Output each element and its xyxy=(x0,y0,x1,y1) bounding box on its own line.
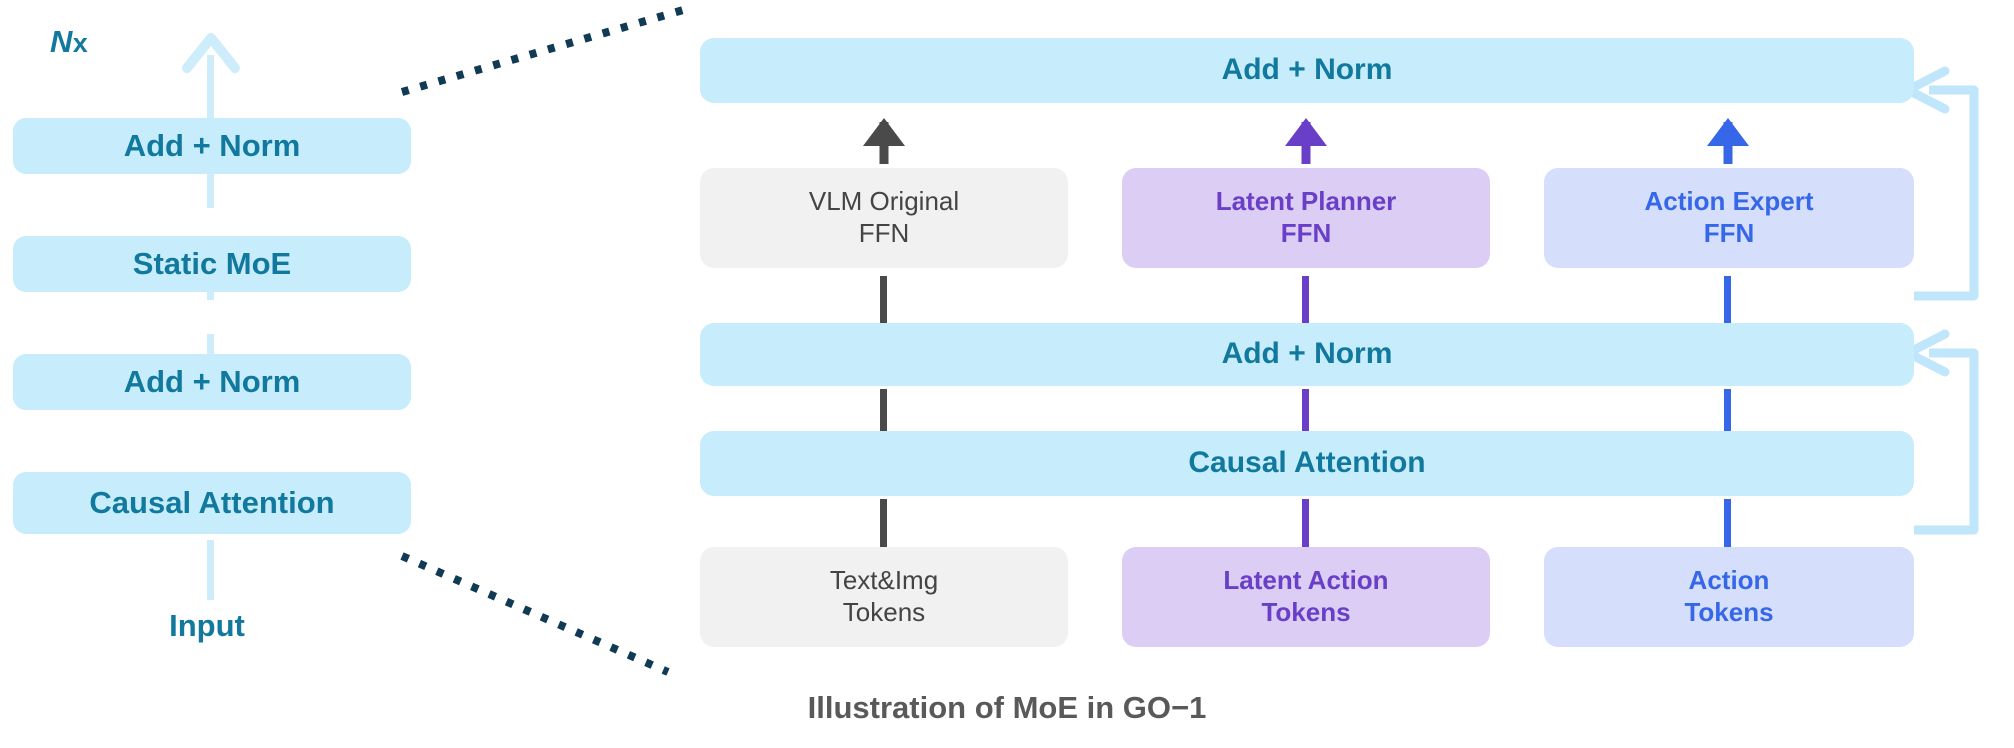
repeat-count-n: N xyxy=(50,24,73,59)
stem-gray-addnorm-to-attn xyxy=(880,389,887,433)
stem-purple-addnorm-to-attn xyxy=(1302,389,1309,433)
token-box-text-img-tokens[interactable]: Text&Img Tokens xyxy=(700,547,1068,647)
token-box-action-tokens[interactable]: Action Tokens xyxy=(1544,547,1914,647)
left-stem-top xyxy=(207,55,214,120)
left-block-add-norm-1[interactable]: Add + Norm xyxy=(13,354,411,410)
left-block-causal-attention[interactable]: Causal Attention xyxy=(13,472,411,534)
stem-purple-ffn-to-addnorm xyxy=(1302,276,1309,324)
left-block-add-norm-2[interactable]: Add + Norm xyxy=(13,118,411,174)
expert-arrow-up-purple-icon xyxy=(1285,118,1327,164)
figure-canvas: Nx Add + Norm Static MoE Add + Norm Caus… xyxy=(0,0,2014,748)
repeat-count-x: x xyxy=(73,28,88,58)
input-label: Input xyxy=(0,608,414,644)
expert-arrow-up-blue-icon xyxy=(1707,118,1749,164)
expert-box-action-expert-ffn[interactable]: Action Expert FFN xyxy=(1544,168,1914,268)
figure-caption: Illustration of MoE in GO−1 xyxy=(0,690,2014,726)
expert-box-latent-planner-ffn[interactable]: Latent Planner FFN xyxy=(1122,168,1490,268)
right-bar-add-norm-top[interactable]: Add + Norm xyxy=(700,38,1914,103)
right-bar-causal-attention[interactable]: Causal Attention xyxy=(700,431,1914,496)
stem-purple-tokens-to-attn xyxy=(1302,499,1309,547)
residual-connection-lower xyxy=(1908,334,1974,530)
left-stem-bottom xyxy=(207,540,214,600)
stem-gray-ffn-to-addnorm xyxy=(880,276,887,324)
token-box-latent-action-tokens[interactable]: Latent Action Tokens xyxy=(1122,547,1490,647)
stem-blue-ffn-to-addnorm xyxy=(1724,276,1731,324)
stem-gray-tokens-to-attn xyxy=(880,499,887,547)
residual-connection-upper xyxy=(1908,71,1974,296)
dotted-line-top-icon xyxy=(402,8,690,92)
repeat-count-label: Nx xyxy=(50,24,88,60)
right-bar-add-norm-middle[interactable]: Add + Norm xyxy=(700,323,1914,386)
expert-arrow-up-gray-icon xyxy=(863,118,905,164)
dotted-line-bottom-icon xyxy=(402,556,668,672)
stem-blue-tokens-to-attn xyxy=(1724,499,1731,547)
left-block-static-moe[interactable]: Static MoE xyxy=(13,236,411,292)
expert-box-vlm-original-ffn[interactable]: VLM Original FFN xyxy=(700,168,1068,268)
stem-blue-addnorm-to-attn xyxy=(1724,389,1731,433)
